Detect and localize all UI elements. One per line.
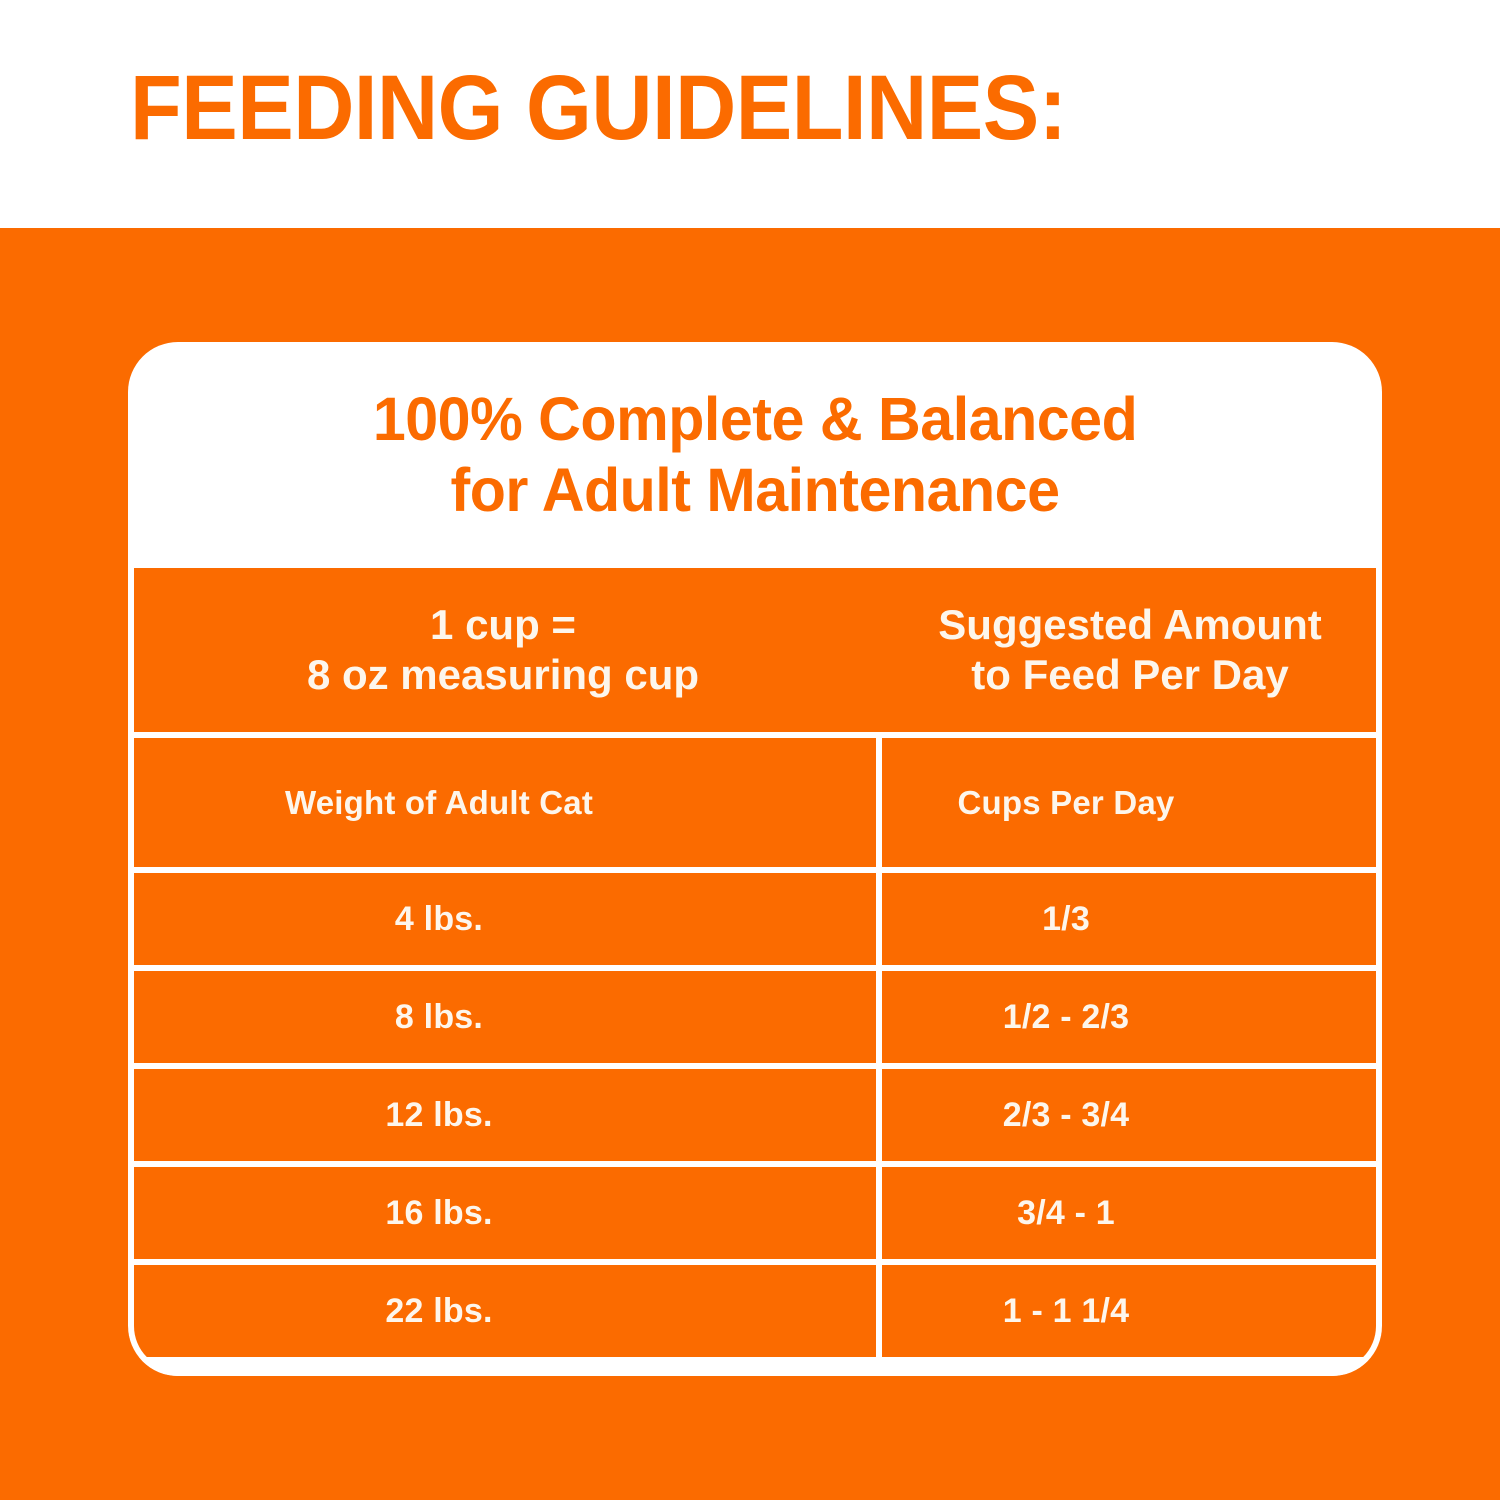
- cell-cups: 1 - 1 1/4: [750, 1265, 1382, 1357]
- cell-weight: 4 lbs.: [128, 873, 750, 965]
- column-header-weight: Weight of Adult Cat: [128, 738, 750, 867]
- cell-weight: 12 lbs.: [128, 1069, 750, 1161]
- card-heading: 100% Complete & Balanced for Adult Maint…: [128, 342, 1382, 568]
- page-title: FEEDING GUIDELINES:: [130, 62, 1066, 154]
- banner-amount-line-2: to Feed Per Day: [938, 650, 1321, 700]
- card-heading-line-1: 100% Complete & Balanced: [373, 384, 1137, 455]
- banner-amount-line-1: Suggested Amount: [938, 600, 1321, 650]
- cell-weight: 22 lbs.: [128, 1265, 750, 1357]
- header-band: FEEDING GUIDELINES:: [0, 0, 1500, 228]
- cell-weight: 8 lbs.: [128, 971, 750, 1063]
- cell-cups: 3/4 - 1: [750, 1167, 1382, 1259]
- banner-cup-line-2: 8 oz measuring cup: [307, 650, 699, 700]
- table-row: 16 lbs. 3/4 - 1: [128, 1167, 1382, 1259]
- banner-cup-line-1: 1 cup =: [307, 600, 699, 650]
- table-row: 12 lbs. 2/3 - 3/4: [128, 1069, 1382, 1161]
- table-row: 22 lbs. 1 - 1 1/4: [128, 1265, 1382, 1357]
- feeding-table: 1 cup = 8 oz measuring cup Suggested Amo…: [128, 568, 1382, 1376]
- card-heading-line-2: for Adult Maintenance: [373, 455, 1137, 526]
- feeding-card: 100% Complete & Balanced for Adult Maint…: [128, 342, 1382, 1376]
- table-header-row: Weight of Adult Cat Cups Per Day: [128, 738, 1382, 867]
- banner-cell-suggested-amount: Suggested Amount to Feed Per Day: [878, 568, 1382, 732]
- column-divider: [876, 738, 882, 1376]
- table-banner-row: 1 cup = 8 oz measuring cup Suggested Amo…: [128, 568, 1382, 732]
- column-header-cups: Cups Per Day: [750, 738, 1382, 867]
- cell-cups: 1/2 - 2/3: [750, 971, 1382, 1063]
- feeding-guidelines-panel: FEEDING GUIDELINES: 100% Complete & Bala…: [0, 0, 1500, 1500]
- cell-cups: 2/3 - 3/4: [750, 1069, 1382, 1161]
- banner-cell-cup-definition: 1 cup = 8 oz measuring cup: [128, 568, 878, 732]
- table-row: 4 lbs. 1/3: [128, 873, 1382, 965]
- cell-weight: 16 lbs.: [128, 1167, 750, 1259]
- card-heading-text: 100% Complete & Balanced for Adult Maint…: [334, 384, 1176, 527]
- cell-cups: 1/3: [750, 873, 1382, 965]
- table-row: 8 lbs. 1/2 - 2/3: [128, 971, 1382, 1063]
